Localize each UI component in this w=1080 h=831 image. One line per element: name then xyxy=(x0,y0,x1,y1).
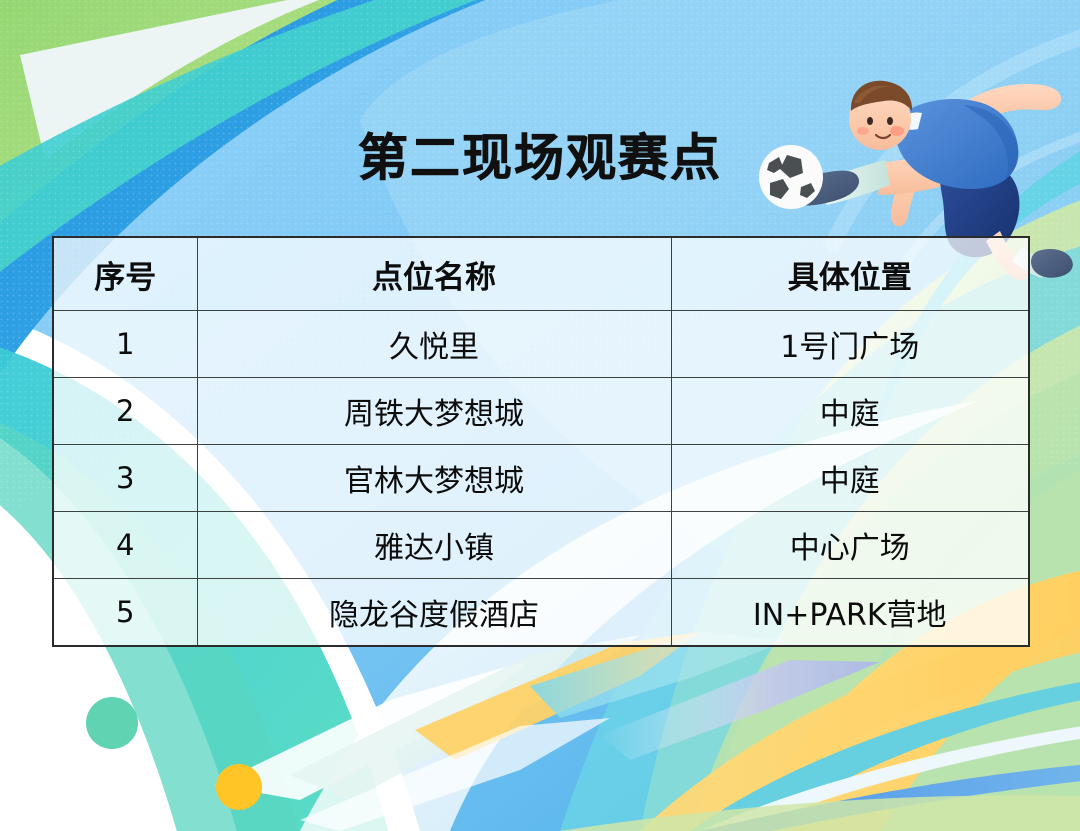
cell-location: 1号门广场 xyxy=(671,311,1029,378)
cell-location: 中庭 xyxy=(671,445,1029,512)
column-header-location: 具体位置 xyxy=(671,237,1029,311)
cell-index: 2 xyxy=(53,378,197,445)
cell-location: 中心广场 xyxy=(671,512,1029,579)
column-header-name: 点位名称 xyxy=(197,237,671,311)
table-row: 1 久悦里 1号门广场 xyxy=(53,311,1029,378)
cell-index: 4 xyxy=(53,512,197,579)
cell-index: 3 xyxy=(53,445,197,512)
column-header-index: 序号 xyxy=(53,237,197,311)
cell-name: 周铁大梦想城 xyxy=(197,378,671,445)
cell-index: 1 xyxy=(53,311,197,378)
cell-name: 久悦里 xyxy=(197,311,671,378)
poster-canvas: 第二现场观赛点 序号 点位名称 具体位置 1 久悦里 xyxy=(0,0,1080,831)
viewing-points-table: 序号 点位名称 具体位置 1 久悦里 1号门广场 2 周铁大梦想城 中庭 xyxy=(52,236,1030,647)
cell-index: 5 xyxy=(53,579,197,647)
page-title: 第二现场观赛点 xyxy=(0,118,1080,190)
table-row: 2 周铁大梦想城 中庭 xyxy=(53,378,1029,445)
viewing-points-table-wrap: 序号 点位名称 具体位置 1 久悦里 1号门广场 2 周铁大梦想城 中庭 xyxy=(52,236,1028,637)
cell-name: 隐龙谷度假酒店 xyxy=(197,579,671,647)
cell-location: 中庭 xyxy=(671,378,1029,445)
cell-name: 官林大梦想城 xyxy=(197,445,671,512)
cell-name: 雅达小镇 xyxy=(197,512,671,579)
table-row: 3 官林大梦想城 中庭 xyxy=(53,445,1029,512)
table-row: 5 隐龙谷度假酒店 IN+PARK营地 xyxy=(53,579,1029,647)
content-layer: 第二现场观赛点 序号 点位名称 具体位置 1 久悦里 xyxy=(0,0,1080,831)
table-header-row: 序号 点位名称 具体位置 xyxy=(53,237,1029,311)
cell-location: IN+PARK营地 xyxy=(671,579,1029,647)
table-row: 4 雅达小镇 中心广场 xyxy=(53,512,1029,579)
